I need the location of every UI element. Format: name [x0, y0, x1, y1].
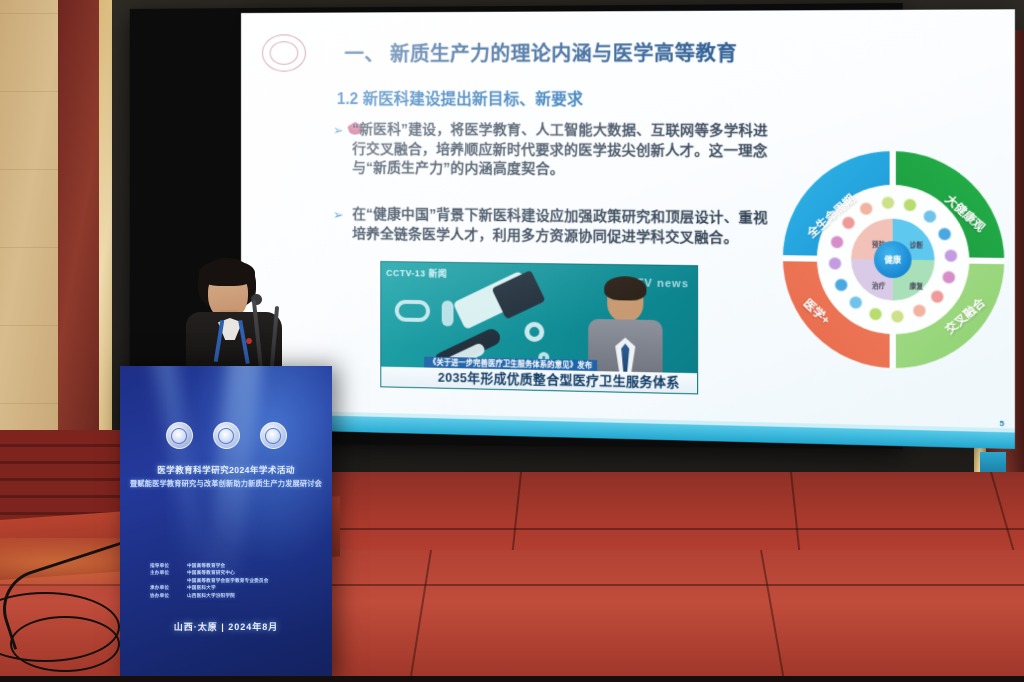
organizer-row: 承办单位中国医科大学 — [150, 584, 269, 591]
decorative-shape — [524, 322, 544, 342]
organizer-name: 中国高等教育学会 — [187, 562, 225, 569]
diagram-node — [859, 202, 873, 215]
organizer-list: 指导单位中国高等教育学会主办单位中国高等教育研究中心中国高等教育学会医学教育专业… — [150, 562, 269, 599]
pie-label: 康复 — [909, 280, 923, 290]
lectern-logo-row — [120, 422, 332, 449]
slide-page-number: 5 — [1000, 419, 1005, 428]
news-anchor — [588, 279, 662, 379]
organizer-row: 主办单位中国高等教育研究中心 — [150, 569, 269, 576]
pie-label: 治疗 — [872, 280, 886, 290]
diagram-core-label: 健康 — [874, 241, 912, 278]
institution-emblem-icon — [213, 422, 240, 449]
lapel-pin-icon — [246, 338, 252, 344]
cable-loop — [10, 616, 120, 672]
university-seal-icon — [262, 34, 306, 71]
institution-emblem-icon — [166, 422, 193, 449]
page-title: 一、 新质生产力的理论内涵与医学高等教育 — [345, 37, 738, 67]
presentation-slide: 一、 新质生产力的理论内涵与医学高等教育 1.2 新医科建设提出新目标、新要求 … — [241, 9, 1015, 449]
organizer-role: 协办单位 — [150, 592, 180, 599]
wall-accent-tab — [980, 452, 1006, 474]
lectern: 医学教育科学研究2024年学术活动 暨赋能医学教育研究与改革创新助力新质生产力发… — [120, 366, 332, 682]
slide-bullet: ➢ 在“健康中国”背景下新医科建设应加强政策研究和顶层设计、重视培养全链条医学人… — [333, 205, 781, 249]
organizer-role: 主办单位 — [150, 569, 180, 576]
decorative-shape — [442, 300, 454, 326]
institution-emblem-icon — [260, 422, 287, 449]
organizer-role: 指导单位 — [150, 562, 180, 569]
pie-label: 诊断 — [909, 239, 923, 249]
organizer-row: 指导单位中国高等教育学会 — [150, 562, 269, 569]
slide-bullet-text: “新医科”建设，将医学教育、人工智能大数据、互联网等多学科进行交叉融合，培养顺应… — [352, 121, 781, 182]
organizer-row: 中国高等教育学会医学教育专业委员会 — [150, 577, 269, 584]
news-clip-image: CCTV-13 新闻 CCTV news 《关于进一步完善医疗卫生服务体系的意见… — [380, 261, 698, 394]
diagram-node — [924, 209, 938, 222]
conference-photo: 一、 新质生产力的理论内涵与医学高等教育 1.2 新医科建设提出新目标、新要求 … — [0, 0, 1024, 682]
organizer-name: 中国医科大学 — [187, 584, 216, 591]
diagram-node — [881, 196, 895, 209]
organizer-row: 协办单位山西医科大学汾阳学院 — [150, 592, 269, 599]
slide-subtitle: 1.2 新医科建设提出新目标、新要求 — [337, 85, 583, 109]
event-title: 医学教育科学研究2024年学术活动 — [128, 464, 324, 476]
slide-bullet-text: 在“健康中国”背景下新医科建设应加强政策研究和顶层设计、重视培养全链条医学人才，… — [352, 205, 781, 249]
diagram-node — [830, 235, 843, 248]
decorative-shape — [395, 300, 430, 322]
organizer-name: 中国高等教育研究中心 — [187, 569, 235, 576]
health-wheel-diagram: 全生命周期 大健康观 医学+ 交叉融合 预防 诊断 康复 治疗 健康 — [783, 151, 1004, 371]
diagram-node — [938, 227, 952, 241]
diagram-node — [841, 216, 854, 229]
event-subtitle: 暨赋能医学教育研究与改革创新助力新质生产力发展研讨会 — [124, 479, 328, 489]
bullet-marker-icon: ➢ — [333, 121, 344, 179]
presenter — [186, 258, 282, 378]
diagram-node — [828, 257, 841, 270]
channel-logo-left: CCTV-13 新闻 — [386, 266, 447, 280]
bullet-marker-icon: ➢ — [333, 205, 344, 243]
organizer-name: 中国高等教育学会医学教育专业委员会 — [187, 577, 269, 584]
slide-bullet: ➢ “新医科”建设，将医学教育、人工智能大数据、互联网等多学科进行交叉融合，培养… — [333, 121, 781, 182]
organizer-role — [150, 577, 180, 584]
organizer-name: 山西医科大学汾阳学院 — [187, 592, 235, 599]
event-place-date: 山西·太原 | 2024年8月 — [120, 620, 332, 633]
diagram-node — [868, 307, 882, 321]
organizer-role: 承办单位 — [150, 584, 180, 591]
diagram-node — [944, 249, 958, 263]
